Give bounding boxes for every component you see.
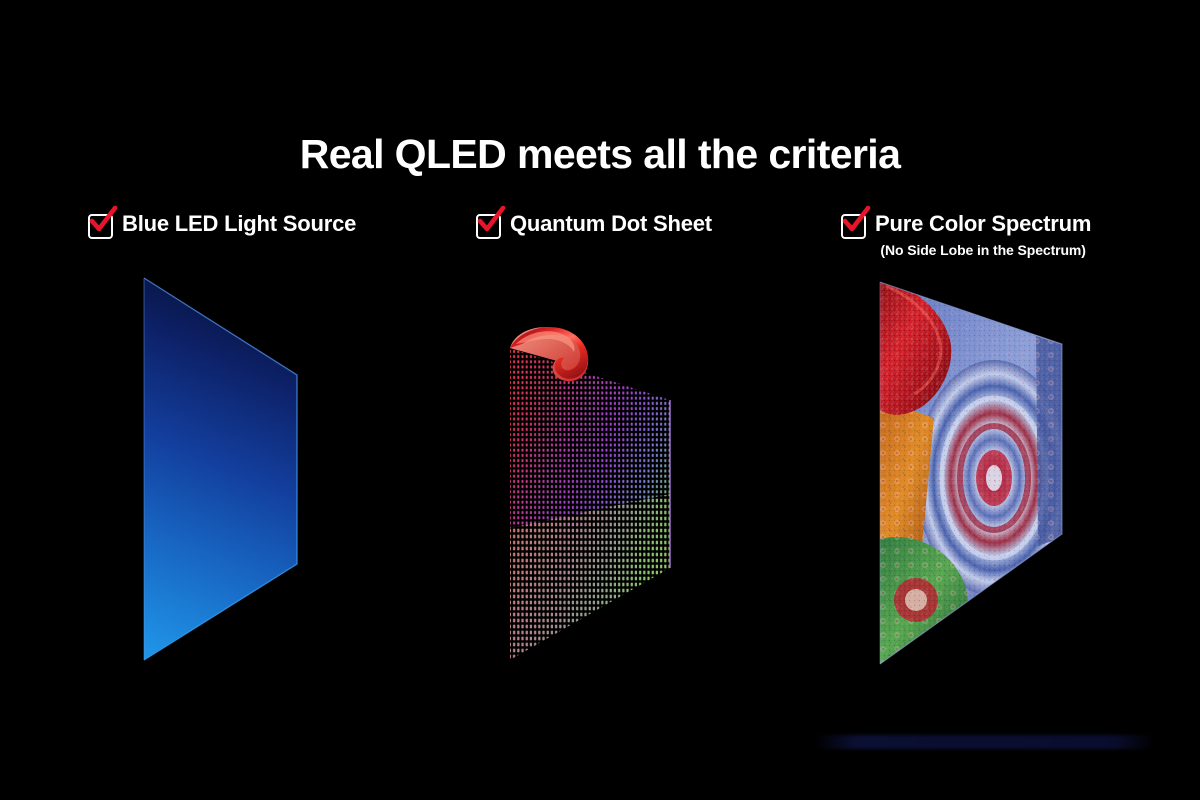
criterion-sublabel: (No Side Lobe in the Spectrum): [880, 240, 1085, 260]
criterion-label: Quantum Dot Sheet: [510, 211, 712, 237]
carpet-texture-panel: [876, 278, 1066, 668]
criterion-quantum-dot-sheet: Quantum Dot Sheet: [476, 211, 712, 239]
quantum-dot-sheet-panel: [504, 318, 674, 666]
blue-led-panel: [140, 274, 302, 664]
check-mark-icon: [476, 206, 506, 236]
checkbox-checked-icon: [476, 214, 501, 239]
checkbox-checked-icon: [841, 214, 866, 239]
criterion-label: Pure Color Spectrum: [875, 211, 1091, 237]
slide-canvas: Real QLED meets all the criteria Blue LE…: [0, 0, 1200, 800]
page-title: Real QLED meets all the criteria: [0, 131, 1200, 178]
criterion-label: Blue LED Light Source: [122, 211, 356, 237]
bottom-glow-band: [815, 735, 1155, 749]
checkbox-checked-icon: [88, 214, 113, 239]
check-mark-icon: [841, 206, 871, 236]
check-mark-icon: [88, 206, 118, 236]
criterion-blue-led-light-source: Blue LED Light Source: [88, 211, 356, 239]
criterion-pure-color-spectrum: Pure Color Spectrum (No Side Lobe in the…: [841, 211, 1091, 260]
